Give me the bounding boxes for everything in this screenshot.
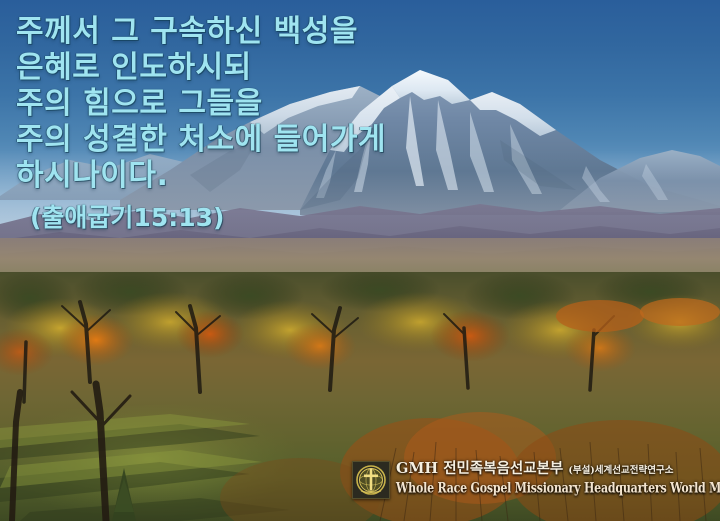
verse-text-block: 주께서 그 구속하신 백성을 은혜로 인도하시되 주의 힘으로 그들을 주의 성… [16, 14, 536, 235]
verse-line-5: 하시나이다. [16, 158, 536, 194]
verse-line-2: 은혜로 인도하시되 [16, 50, 536, 86]
verse-reference: (출애굽기15:13) [30, 201, 536, 235]
organization-footer: GMH 전민족복음선교본부 (부설)세계선교전략연구소 Whole Race G… [352, 458, 720, 508]
organization-name-korean: GMH 전민족복음선교본부 (부설)세계선교전략연구소 [396, 460, 720, 479]
org-korean-sub: (부설)세계선교전략연구소 [568, 465, 673, 476]
organization-name-english: Whole Race Gospel Missionary Headquarter… [396, 480, 720, 498]
verse-poster: 주께서 그 구속하신 백성을 은혜로 인도하시되 주의 힘으로 그들을 주의 성… [0, 0, 720, 521]
org-abbrev: GMH [396, 460, 438, 477]
verse-line-4: 주의 성결한 처소에 들어가게 [16, 122, 536, 158]
organization-name-block: GMH 전민족복음선교본부 (부설)세계선교전략연구소 Whole Race G… [396, 458, 720, 494]
verse-line-3: 주의 힘으로 그들을 [16, 86, 536, 122]
verse-line-1: 주께서 그 구속하신 백성을 [16, 14, 536, 50]
cross-globe-emblem-icon [352, 461, 390, 499]
org-korean-main: 전민족복음선교본부 [443, 460, 563, 477]
